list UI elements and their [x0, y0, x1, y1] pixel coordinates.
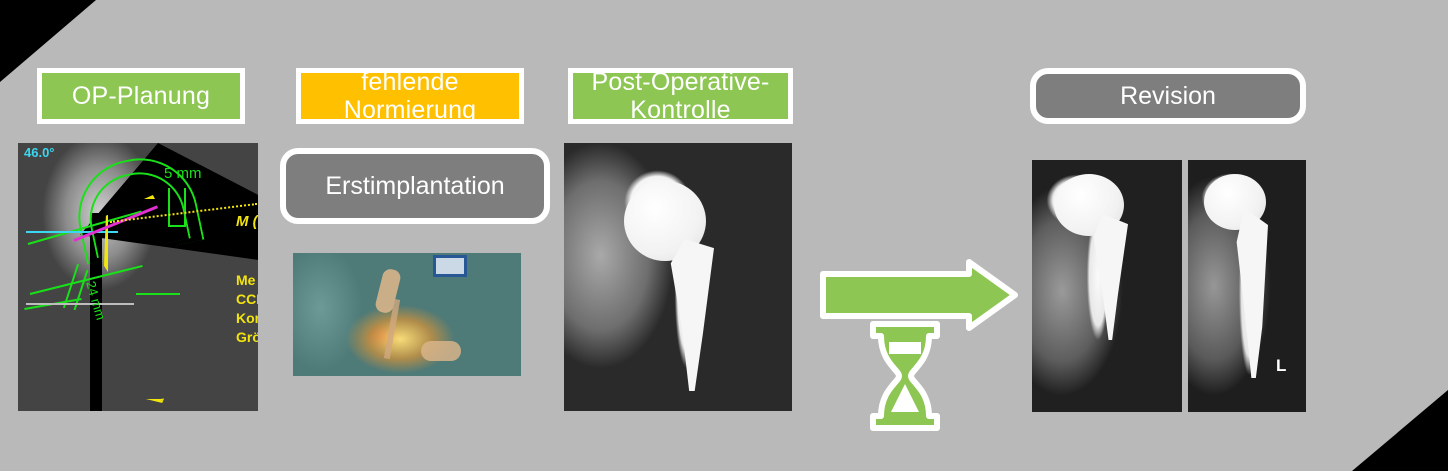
header-revision[interactable]: Revision [1030, 68, 1306, 124]
planning-xray[interactable]: 46.0° 5 mm M ( Me CCI Kor Grö 24 mm [18, 143, 258, 411]
header-revision-label: Revision [1120, 82, 1216, 111]
surgery-monitor-screen [436, 258, 464, 274]
planning-legend-line-2: CCI [236, 290, 258, 309]
planning-offset-label: 5 mm [164, 165, 202, 182]
header-op-planung-label: OP-Planung [72, 82, 210, 110]
planning-legend-line-1: Me [236, 271, 258, 290]
planning-length-label: 24 mm [83, 279, 108, 321]
surgery-photo[interactable] [293, 253, 521, 376]
diagram-canvas: OP-Planung 46.0° 5 mm M ( Me [0, 0, 1448, 471]
header-post-operative-kontrolle[interactable]: Post-Operative- Kontrolle [568, 68, 793, 124]
planning-legend-line-3: Kor [236, 309, 258, 328]
planning-gray-line [26, 303, 134, 305]
header-fehlende-normierung-line1: fehlende [361, 68, 459, 96]
revision-left-stem [1092, 214, 1128, 340]
planning-angle-label: 46.0° [24, 145, 55, 160]
header-op-planung[interactable]: OP-Planung [37, 68, 245, 124]
postop-stem [668, 239, 714, 391]
hourglass-icon [865, 320, 945, 432]
header-post-operative-kontrolle-line1: Post-Operative- [591, 68, 769, 96]
planning-axis-label: M ( [236, 213, 258, 230]
planning-5mm-right [184, 188, 186, 226]
revision-xray-right[interactable]: L [1188, 160, 1306, 412]
revision-right-side-marker: L [1276, 356, 1286, 376]
planning-5mm-base [168, 225, 186, 227]
header-post-operative-kontrolle-line2: Kontrolle [630, 96, 730, 124]
revision-right-stem [1236, 208, 1268, 378]
header-fehlende-normierung-line2: Normierung [344, 96, 477, 124]
planning-legend-line-4: Grö [236, 328, 258, 347]
planning-legend: Me CCI Kor Grö [236, 271, 258, 347]
planning-5mm-left [168, 188, 170, 226]
pill-erstimplantation-label: Erstimplantation [325, 172, 504, 201]
postop-xray[interactable] [564, 143, 792, 411]
planning-reference-line [26, 231, 118, 233]
header-fehlende-normierung[interactable]: fehlende Normierung [296, 68, 524, 124]
pill-erstimplantation[interactable]: Erstimplantation [280, 148, 550, 224]
revision-xray-left[interactable] [1032, 160, 1182, 412]
surgery-hand-2 [421, 341, 461, 361]
